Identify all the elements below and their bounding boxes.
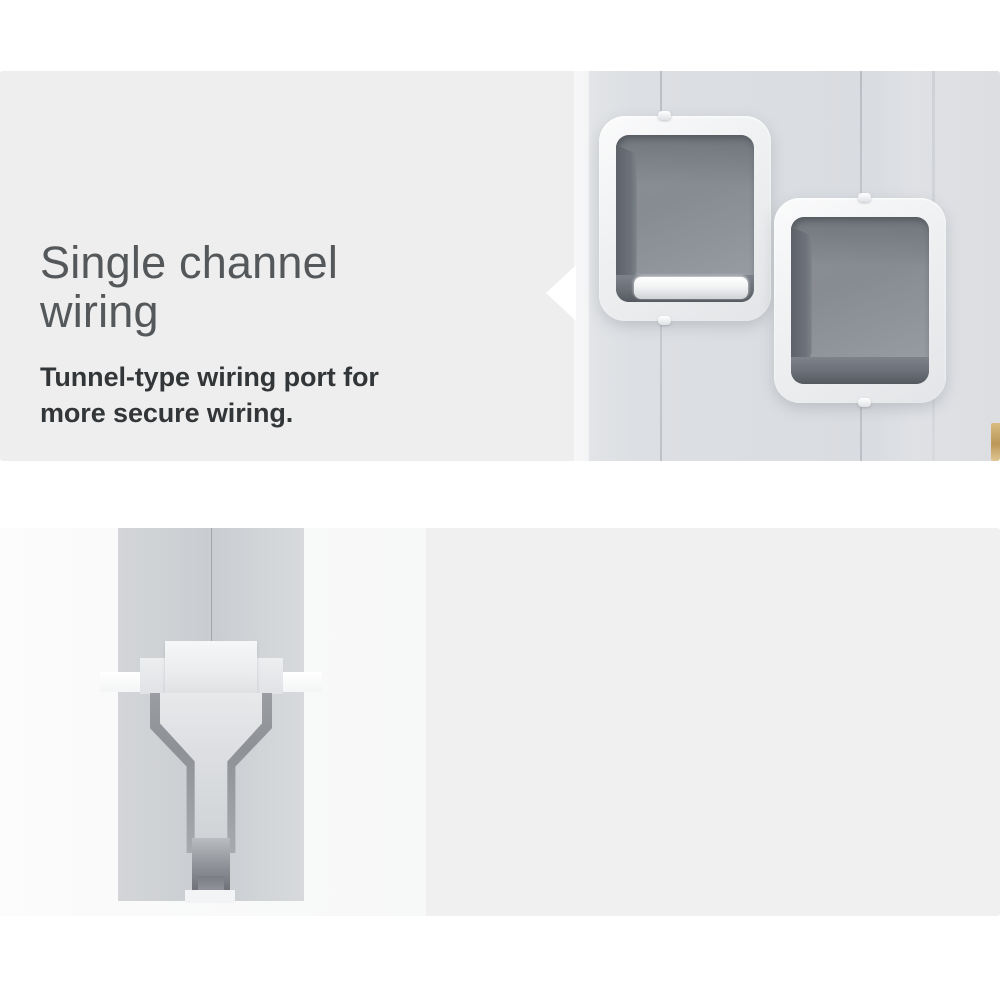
port-shade	[791, 217, 929, 267]
port-shade	[616, 135, 754, 185]
port-hinge-nub	[858, 193, 871, 202]
port-hinge-nub	[658, 111, 671, 120]
wiring-port-upper	[599, 116, 771, 321]
panel-positioning-clip: Positioning clip Press to open easily, S…	[0, 528, 1000, 916]
port-hinge-nub	[858, 398, 871, 407]
wiring-port-upper-mouth	[616, 135, 754, 302]
clip-cap-wing-left	[140, 658, 166, 694]
port-wall	[616, 145, 637, 289]
brass-terminal-sliver	[991, 423, 1000, 461]
wiring-headline: Single channel wiring	[40, 239, 540, 336]
port-floor	[791, 357, 929, 384]
chevron-left-icon	[546, 265, 576, 321]
clip-press-pad	[165, 641, 257, 693]
wiring-port-photo	[574, 71, 1000, 461]
panel-single-channel-wiring: Single channel wiring Tunnel-type wiring…	[0, 71, 1000, 461]
positioning-clip-photo	[0, 528, 426, 916]
clip-foot	[185, 890, 235, 903]
infographic-page: Single channel wiring Tunnel-type wiring…	[0, 0, 1000, 1000]
wiring-cable	[634, 277, 749, 299]
port-hinge-nub	[658, 316, 671, 325]
wiring-port-lower	[774, 198, 946, 403]
port-wall	[791, 227, 812, 371]
wiring-text-block: Single channel wiring Tunnel-type wiring…	[40, 239, 540, 432]
wiring-port-lower-mouth	[791, 217, 929, 384]
wiring-subline: Tunnel-type wiring port for more secure …	[40, 360, 540, 432]
clip-cap-wing-right	[257, 658, 283, 694]
